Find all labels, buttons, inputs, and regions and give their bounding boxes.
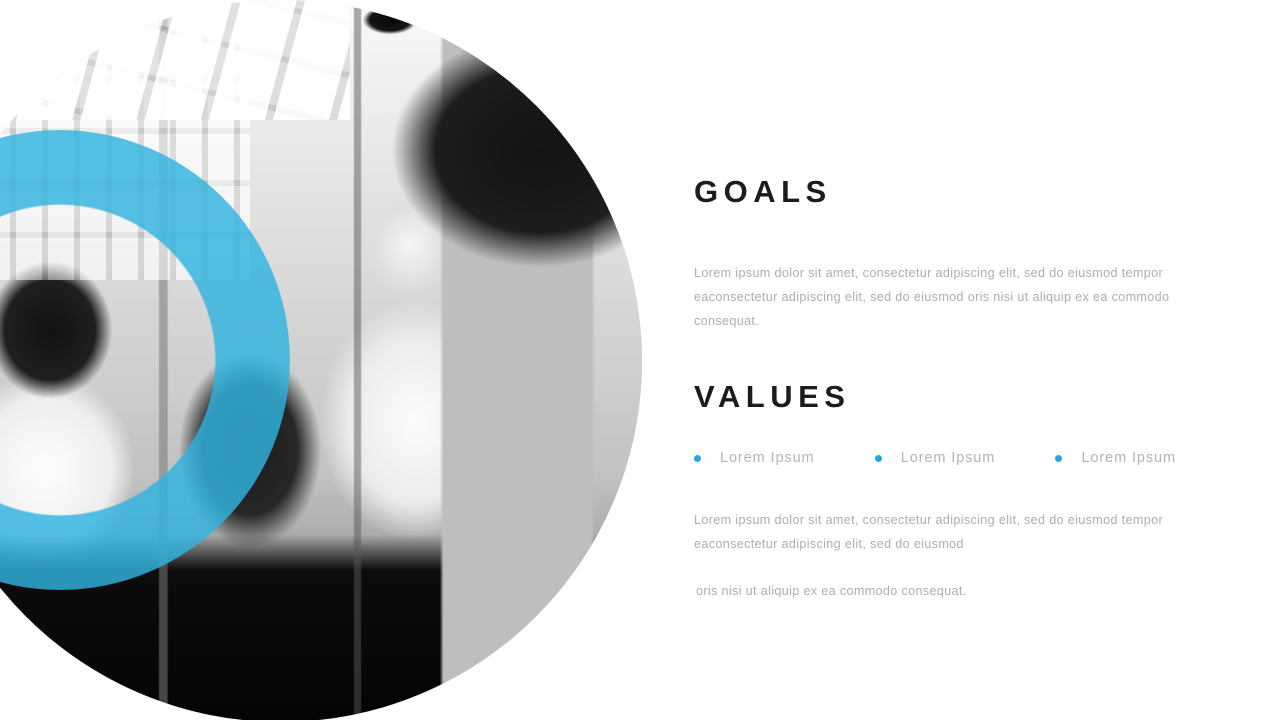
values-paragraph-tail: oris nisi ut aliquip ex ea commodo conse… <box>696 579 1178 603</box>
list-item-label: Lorem Ipsum <box>1081 450 1176 466</box>
goals-paragraph: Lorem ipsum dolor sit amet, consectetur … <box>694 261 1176 333</box>
goals-heading: GOALS <box>694 176 832 207</box>
text-content-column: GOALS Lorem ipsum dolor sit amet, consec… <box>694 0 1180 720</box>
list-item-label: Lorem Ipsum <box>901 450 996 466</box>
list-item[interactable]: Lorem Ipsum <box>694 450 815 466</box>
bullet-dot-icon <box>875 455 882 462</box>
values-paragraph: Lorem ipsum dolor sit amet, consectetur … <box>694 508 1176 556</box>
values-bullet-list: Lorem Ipsum Lorem Ipsum Lorem Ipsum <box>694 450 1176 466</box>
bullet-dot-icon <box>1055 455 1062 462</box>
list-item-label: Lorem Ipsum <box>720 450 815 466</box>
values-heading: VALUES <box>694 381 850 412</box>
photo-scene <box>0 0 642 720</box>
list-item[interactable]: Lorem Ipsum <box>1055 450 1176 466</box>
team-meeting-photo <box>0 0 642 720</box>
slide-root: GOALS Lorem ipsum dolor sit amet, consec… <box>0 0 1280 720</box>
list-item[interactable]: Lorem Ipsum <box>875 450 996 466</box>
bullet-dot-icon <box>694 455 701 462</box>
